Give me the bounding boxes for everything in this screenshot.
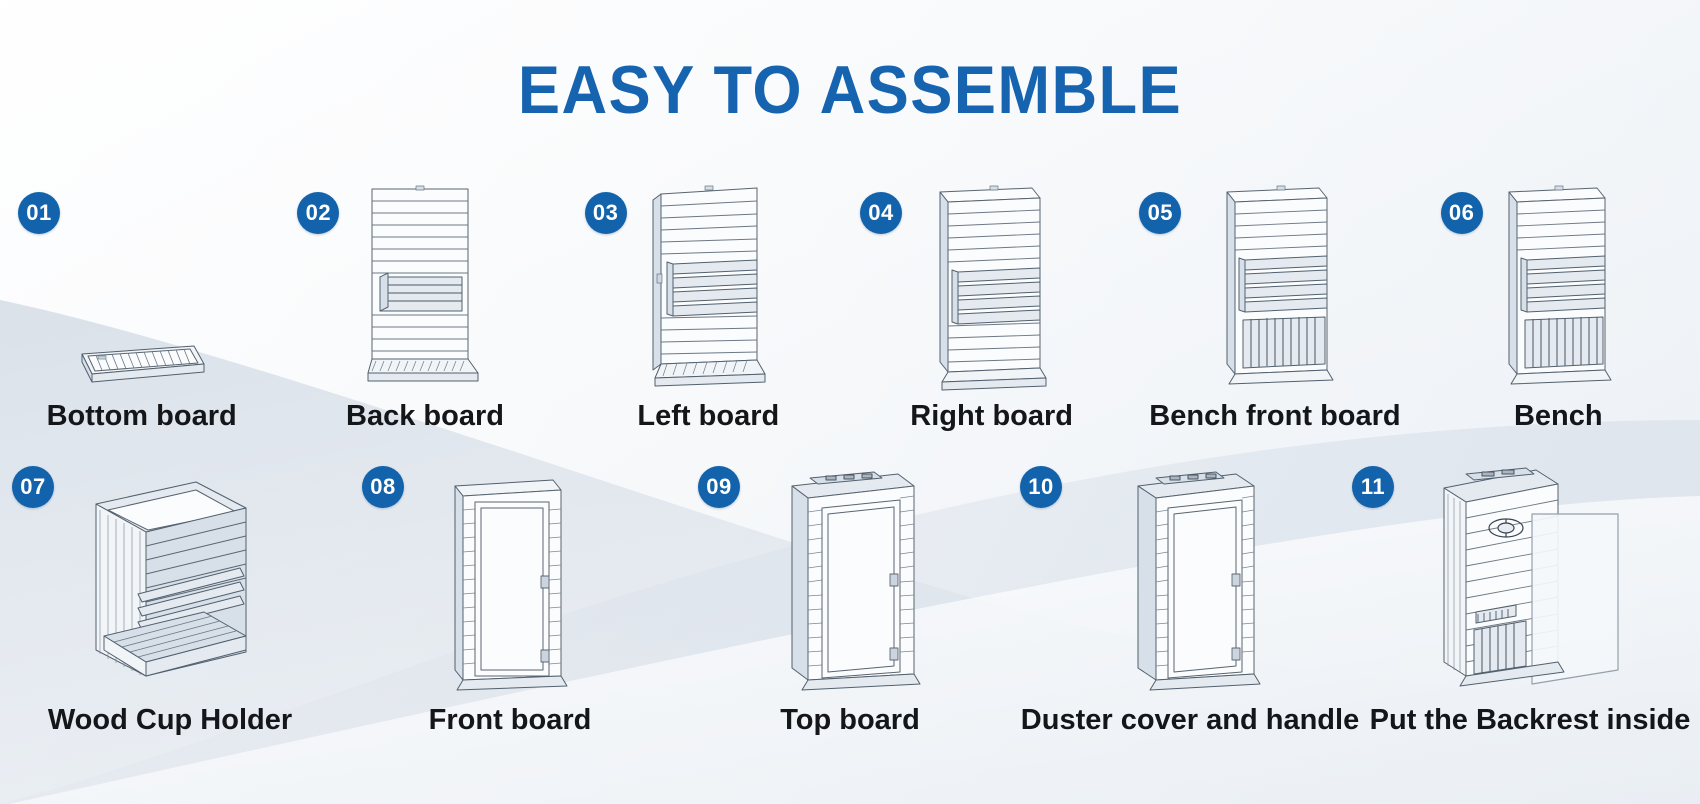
step-item-06[interactable]: 06	[1417, 178, 1700, 448]
bottom-board-drawing	[0, 178, 283, 396]
step-label-07: Wood Cup Holder	[0, 704, 340, 737]
page-title: EASY TO ASSEMBLE	[60, 56, 1641, 124]
step-item-02[interactable]: 02	[283, 178, 566, 448]
wood-cup-holder-drawing	[0, 452, 340, 700]
step-item-11[interactable]: 11	[1360, 452, 1700, 752]
bench-front-board-drawing	[1133, 178, 1416, 396]
step-item-08[interactable]: 08	[340, 452, 680, 752]
step-label-01: Bottom board	[0, 400, 283, 433]
step-label-09: Top board	[680, 704, 1020, 737]
duster-cover-handle-drawing	[1020, 452, 1360, 700]
backrest-inside-drawing	[1360, 452, 1700, 700]
bench-drawing	[1417, 178, 1700, 396]
assembly-infographic: EASY TO ASSEMBLE 01	[0, 0, 1700, 804]
steps-row-2: 07	[0, 452, 1700, 752]
step-label-03: Left board	[567, 400, 850, 433]
step-item-05[interactable]: 05	[1133, 178, 1416, 448]
step-label-11: Put the Backrest inside	[1360, 704, 1700, 737]
step-label-04: Right board	[850, 400, 1133, 433]
step-item-10[interactable]: 10	[1020, 452, 1360, 752]
left-board-drawing	[567, 178, 850, 396]
step-item-03[interactable]: 03	[567, 178, 850, 448]
step-label-10: Duster cover and handle	[1020, 704, 1360, 737]
back-board-drawing	[283, 178, 566, 396]
step-label-06: Bench	[1417, 400, 1700, 433]
top-board-drawing	[680, 452, 1020, 700]
step-item-04[interactable]: 04	[850, 178, 1133, 448]
step-item-07[interactable]: 07	[0, 452, 340, 752]
steps-row-1: 01	[0, 178, 1700, 448]
right-board-drawing	[850, 178, 1133, 396]
step-item-09[interactable]: 09	[680, 452, 1020, 752]
front-board-drawing	[340, 452, 680, 700]
step-label-05: Bench front board	[1133, 400, 1416, 433]
step-label-08: Front board	[340, 704, 680, 737]
step-label-02: Back board	[283, 400, 566, 433]
step-item-01[interactable]: 01	[0, 178, 283, 448]
